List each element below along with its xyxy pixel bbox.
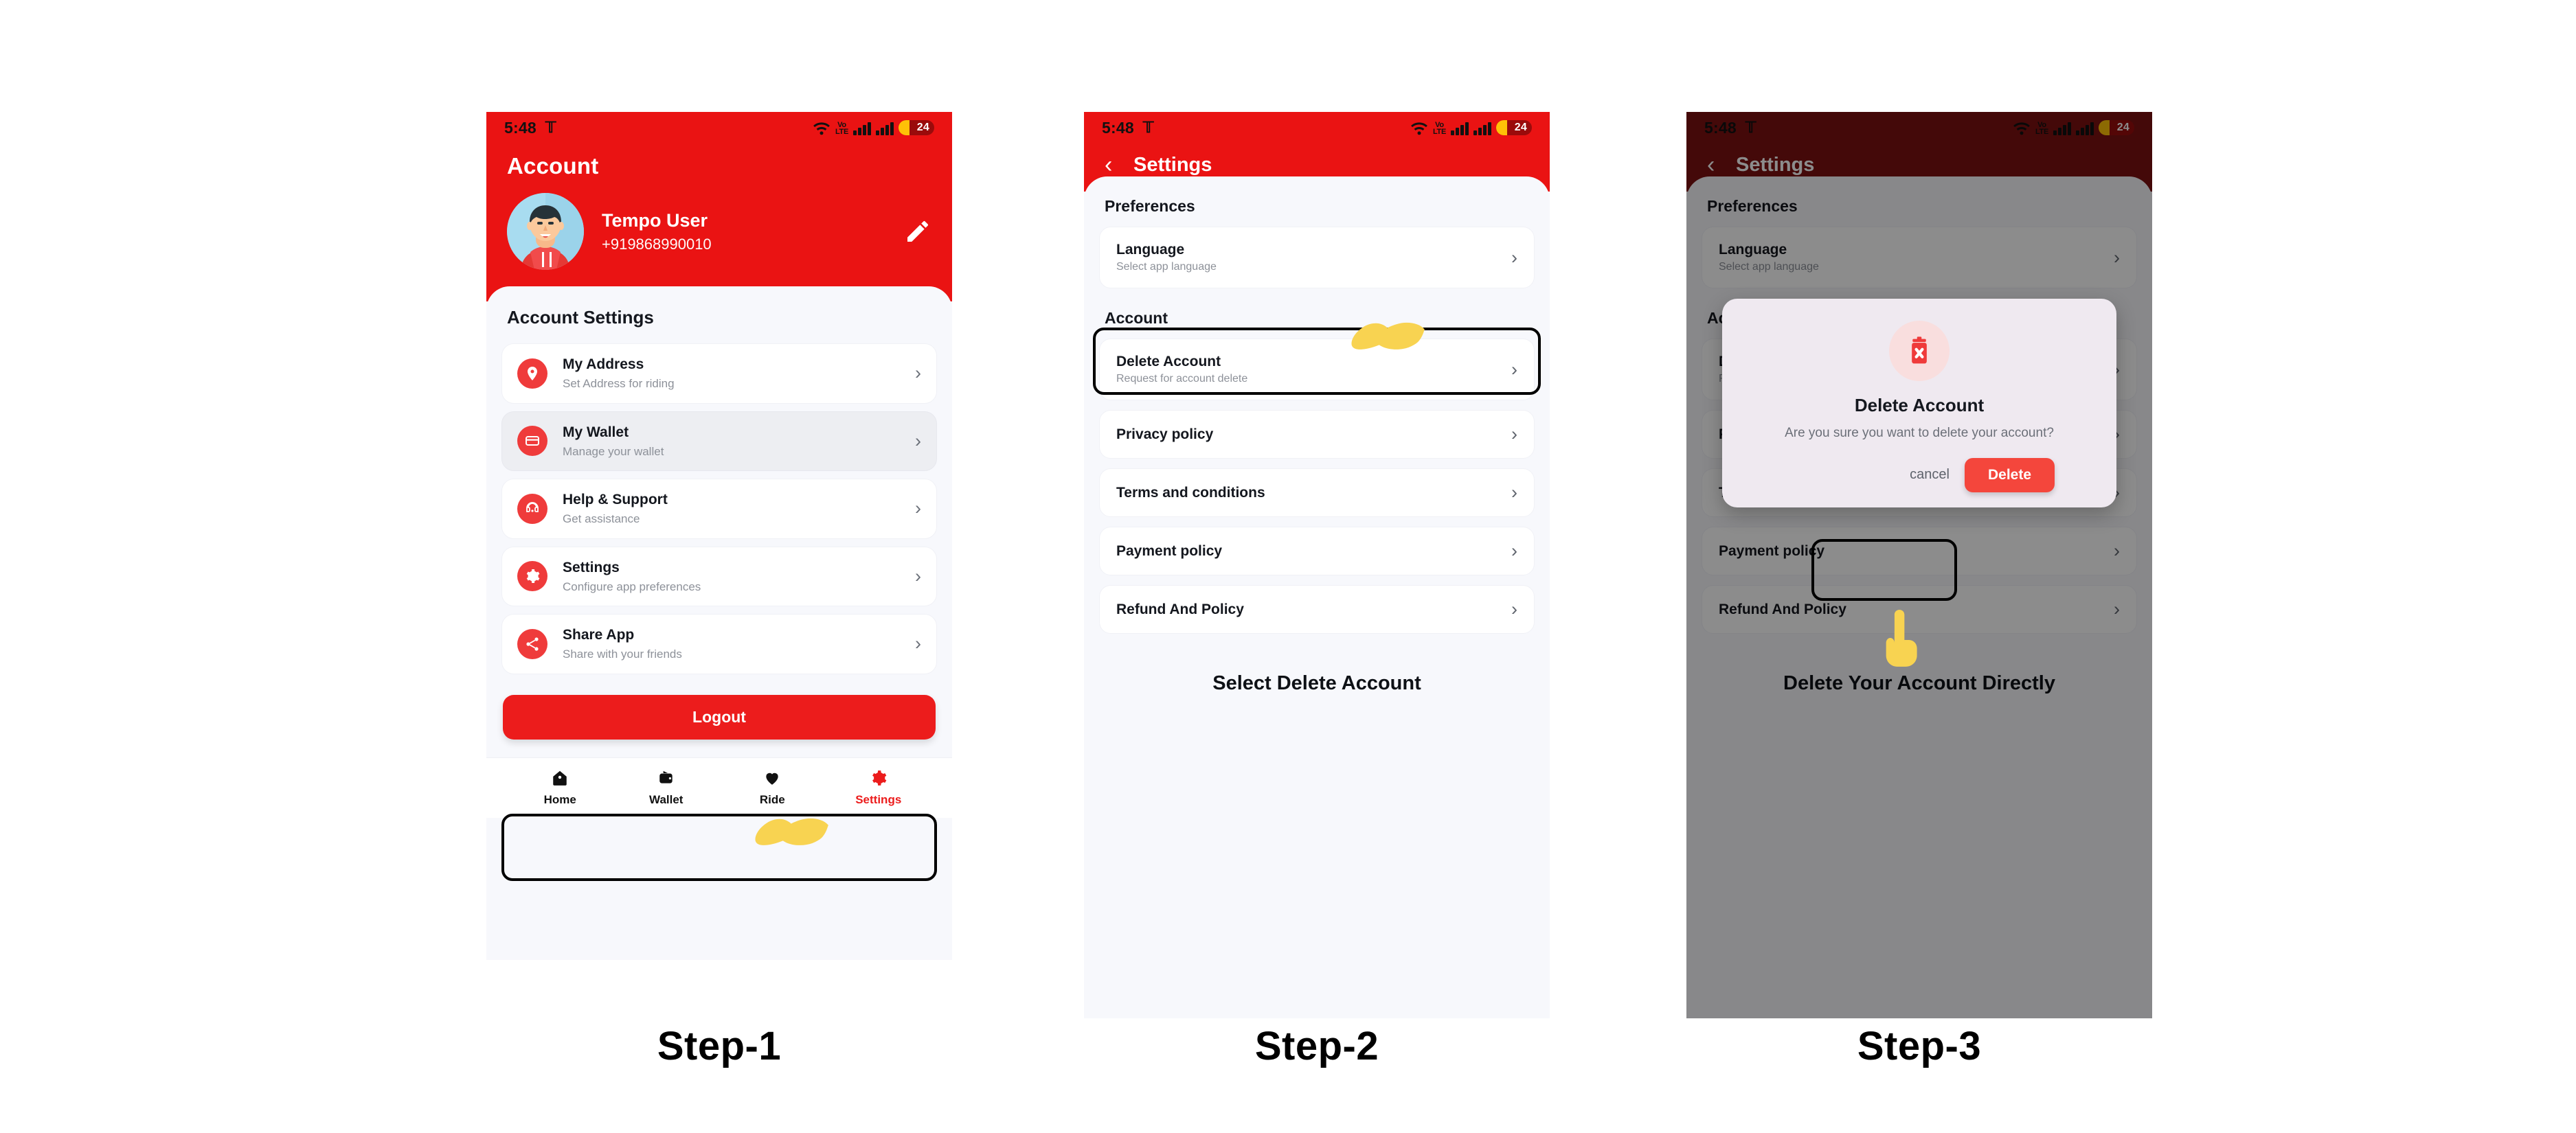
wifi-icon	[1410, 120, 1428, 135]
settings-row-title: Refund And Policy	[1116, 602, 1244, 618]
profile-row[interactable]: Tempo User +919868990010	[486, 186, 952, 301]
list-item-subtitle: Share with your friends	[563, 647, 896, 661]
list-item-text: My WalletManage your wallet	[563, 424, 896, 459]
nav-item-ride[interactable]: Ride	[719, 768, 826, 807]
list-item-text: Share AppShare with your friends	[563, 626, 896, 662]
settings-row-title: Terms and conditions	[1116, 485, 1265, 501]
delete-account-dialog: Delete Account Are you sure you want to …	[1722, 299, 2116, 507]
chevron-right-icon: ›	[915, 499, 921, 518]
list-item-subtitle: Get assistance	[563, 512, 896, 526]
status-bar-right-2: VoLTE 24	[1410, 120, 1532, 135]
dialog-actions: cancel Delete	[1741, 458, 2097, 492]
phone-screen-step-2: 5:48 𝕋 VoLTE 24	[1084, 112, 1550, 1018]
profile-phone: +919868990010	[602, 236, 712, 253]
chevron-right-icon: ›	[1511, 360, 1517, 379]
profile-name: Tempo User	[602, 210, 712, 231]
list-item-subtitle: Manage your wallet	[563, 444, 896, 459]
step-caption-2: Step-2	[1084, 1023, 1550, 1069]
list-item-title: Share App	[563, 626, 896, 644]
list-item-text: Help & SupportGet assistance	[563, 491, 896, 527]
settings-row-refund-and-policy[interactable]: Refund And Policy›	[1099, 585, 1535, 634]
preferences-list: LanguageSelect app language›	[1084, 227, 1550, 288]
list-item-my-wallet[interactable]: My WalletManage your wallet›	[501, 411, 937, 472]
wallet-card-icon	[517, 426, 547, 456]
nav-item-wallet[interactable]: Wallet	[613, 768, 720, 807]
account-list: Delete AccountRequest for account delete…	[1084, 339, 1550, 634]
status-bar-1: 5:48 𝕋 VoLTE 24	[486, 112, 952, 144]
step-note: Select Delete Account	[1084, 634, 1550, 695]
settings-row-language[interactable]: LanguageSelect app language›	[1099, 227, 1535, 288]
account-header: 5:48 𝕋 VoLTE 24 Account	[486, 112, 952, 301]
location-pin-icon	[517, 358, 547, 389]
chevron-right-icon: ›	[915, 634, 921, 653]
phone-screen-step-3: 5:48 𝕋 VoLTE 24	[1686, 112, 2152, 1018]
wifi-icon	[813, 120, 831, 135]
settings-row-highlight	[501, 814, 937, 881]
logout-wrap: Logout	[486, 674, 952, 757]
section-account-title: Account	[1084, 288, 1550, 339]
settings-row-privacy-policy[interactable]: Privacy policy›	[1099, 410, 1535, 459]
status-bar-right: VoLTE 24	[813, 120, 934, 135]
status-time: 5:48	[1102, 119, 1134, 137]
chevron-right-icon: ›	[1511, 600, 1517, 619]
status-bar-left-2: 5:48 𝕋	[1102, 119, 1154, 137]
signal-bars-icon-2	[1473, 122, 1491, 135]
settings-row-terms-and-conditions[interactable]: Terms and conditions›	[1099, 468, 1535, 517]
page-title: Account	[486, 144, 952, 186]
chevron-right-icon: ›	[915, 432, 921, 450]
chevron-right-icon: ›	[1511, 425, 1517, 444]
settings-row-text: Terms and conditions	[1116, 485, 1265, 501]
settings-row-title: Payment policy	[1116, 543, 1222, 560]
chevron-right-icon: ›	[1511, 249, 1517, 267]
status-time: 5:48	[504, 119, 536, 137]
list-item-text: My AddressSet Address for riding	[563, 356, 896, 391]
list-item-help-support[interactable]: Help & SupportGet assistance›	[501, 479, 937, 539]
nav-item-settings[interactable]: Settings	[826, 768, 932, 807]
share-nodes-icon	[517, 629, 547, 659]
tutorial-screenshot-stage: 5:48 𝕋 VoLTE 24 Account	[0, 0, 2576, 1133]
list-item-title: My Address	[563, 356, 896, 374]
nav-item-label: Home	[507, 793, 613, 807]
list-item-title: My Wallet	[563, 424, 896, 442]
battery-icon: 24	[1496, 120, 1532, 135]
wallet-icon	[613, 768, 720, 788]
settings-row-subtitle: Request for account delete	[1116, 373, 1247, 385]
list-item-subtitle: Set Address for riding	[563, 376, 896, 391]
list-item-title: Settings	[563, 559, 896, 577]
nav-item-label: Settings	[826, 793, 932, 807]
cancel-button[interactable]: cancel	[1910, 467, 1950, 483]
settings-row-title: Delete Account	[1116, 354, 1247, 370]
list-item-settings[interactable]: SettingsConfigure app preferences›	[501, 547, 937, 607]
signal-bars-icon	[1451, 122, 1469, 135]
chevron-right-icon: ›	[915, 364, 921, 382]
account-settings-sheet: Account Settings My AddressSet Address f…	[486, 286, 952, 757]
settings-row-payment-policy[interactable]: Payment policy›	[1099, 527, 1535, 575]
status-bar-left: 5:48 𝕋	[504, 119, 556, 137]
account-settings-list: My AddressSet Address for riding›My Wall…	[486, 343, 952, 674]
settings-row-subtitle: Select app language	[1116, 261, 1217, 273]
gear-icon	[826, 768, 932, 788]
x-logo-icon: 𝕋	[1143, 120, 1154, 135]
chevron-right-icon: ›	[1511, 483, 1517, 502]
volte-indicator: VoLTE	[835, 122, 848, 135]
list-item-subtitle: Configure app preferences	[563, 580, 896, 594]
x-logo-icon: 𝕋	[545, 120, 556, 135]
dialog-title: Delete Account	[1741, 395, 2097, 416]
home-icon	[507, 768, 613, 788]
heart-icon	[719, 768, 826, 788]
list-item-title: Help & Support	[563, 491, 896, 509]
nav-item-label: Wallet	[613, 793, 720, 807]
headset-icon	[517, 494, 547, 524]
profile-text: Tempo User +919868990010	[602, 210, 712, 253]
nav-item-home[interactable]: Home	[507, 768, 613, 807]
settings-sheet: Preferences LanguageSelect app language›…	[1084, 176, 1550, 695]
user-avatar-illustration	[507, 193, 584, 270]
page-title: Settings	[1133, 154, 1212, 176]
chevron-left-icon[interactable]: ‹	[1105, 153, 1122, 176]
settings-row-text: LanguageSelect app language	[1116, 242, 1217, 273]
bottom-navigation: HomeWalletRideSettings	[486, 757, 952, 818]
status-bar-2: 5:48 𝕋 VoLTE 24	[1084, 112, 1550, 144]
signal-bars-icon-2	[876, 122, 894, 135]
battery-icon: 24	[899, 120, 934, 135]
chevron-right-icon: ›	[915, 567, 921, 586]
settings-row-text: Delete AccountRequest for account delete	[1116, 354, 1247, 385]
nav-item-label: Ride	[719, 793, 826, 807]
list-item-my-address[interactable]: My AddressSet Address for riding›	[501, 343, 937, 404]
section-preferences-title: Preferences	[1084, 176, 1550, 227]
settings-row-text: Privacy policy	[1116, 426, 1213, 443]
delete-button[interactable]: Delete	[1965, 458, 2055, 492]
list-item-text: SettingsConfigure app preferences	[563, 559, 896, 595]
step-caption-1: Step-1	[486, 1023, 952, 1069]
step-caption-3: Step-3	[1686, 1023, 2152, 1069]
volte-indicator: VoLTE	[1433, 122, 1446, 135]
logout-button[interactable]: Logout	[503, 695, 936, 740]
pencil-edit-icon[interactable]	[904, 218, 931, 245]
gear-icon	[517, 561, 547, 591]
trash-delete-icon	[1889, 321, 1950, 381]
settings-row-text: Payment policy	[1116, 543, 1222, 560]
section-title: Account Settings	[486, 286, 952, 343]
settings-row-delete-account[interactable]: Delete AccountRequest for account delete…	[1099, 339, 1535, 400]
phone-screen-step-1: 5:48 𝕋 VoLTE 24 Account	[486, 112, 952, 960]
settings-row-title: Language	[1116, 242, 1217, 258]
settings-row-title: Privacy policy	[1116, 426, 1213, 443]
modal-scrim[interactable]	[1686, 112, 2152, 1018]
chevron-right-icon: ›	[1511, 542, 1517, 560]
settings-row-text: Refund And Policy	[1116, 602, 1244, 618]
signal-bars-icon	[853, 122, 871, 135]
list-item-share-app[interactable]: Share AppShare with your friends›	[501, 614, 937, 674]
dialog-message: Are you sure you want to delete your acc…	[1741, 424, 2097, 443]
